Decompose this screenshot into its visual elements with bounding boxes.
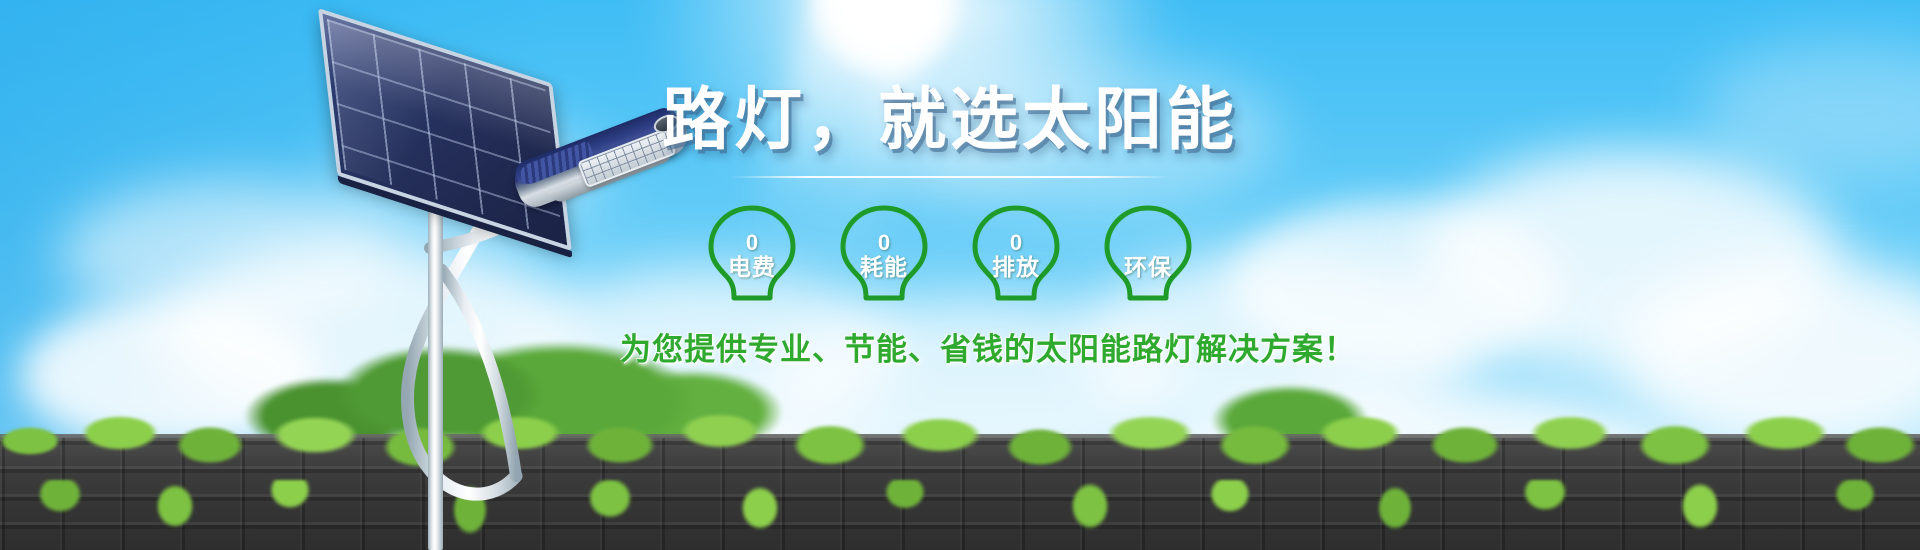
feature-badge-label: 环保 xyxy=(1124,256,1172,279)
feature-badge-text: 0 排放 xyxy=(992,228,1040,279)
feature-badge-label: 电费 xyxy=(728,256,776,279)
feature-badge-label: 排放 xyxy=(992,256,1040,279)
feature-badge-zero: 0 xyxy=(746,232,758,256)
feature-badge-label: 耗能 xyxy=(860,256,908,279)
feature-badge-2: 0 排放 xyxy=(964,202,1068,306)
feature-badge-list: 0 电费 0 耗能 0 排放 xyxy=(620,202,1280,306)
feature-badge-1: 0 耗能 xyxy=(832,202,936,306)
banner-copy: 路灯，就选太阳能 0 电费 0 耗能 xyxy=(620,86,1280,369)
feature-badge-text: 0 电费 xyxy=(728,228,776,279)
solar-streetlight-banner: 路灯，就选太阳能 0 电费 0 耗能 xyxy=(0,0,1920,550)
feature-badge-text: 环保 xyxy=(1124,228,1172,279)
feature-badge-0: 0 电费 xyxy=(700,202,804,306)
feature-badge-zero: 0 xyxy=(878,232,890,256)
feature-badge-zero: 0 xyxy=(1010,232,1022,256)
title-divider xyxy=(730,176,1170,178)
feature-badge-3: 环保 xyxy=(1096,202,1200,306)
feature-badge-text: 0 耗能 xyxy=(860,228,908,279)
banner-subtitle: 为您提供专业、节能、省钱的太阳能路灯解决方案！ xyxy=(620,324,1280,369)
page-title: 路灯，就选太阳能 xyxy=(620,86,1280,154)
